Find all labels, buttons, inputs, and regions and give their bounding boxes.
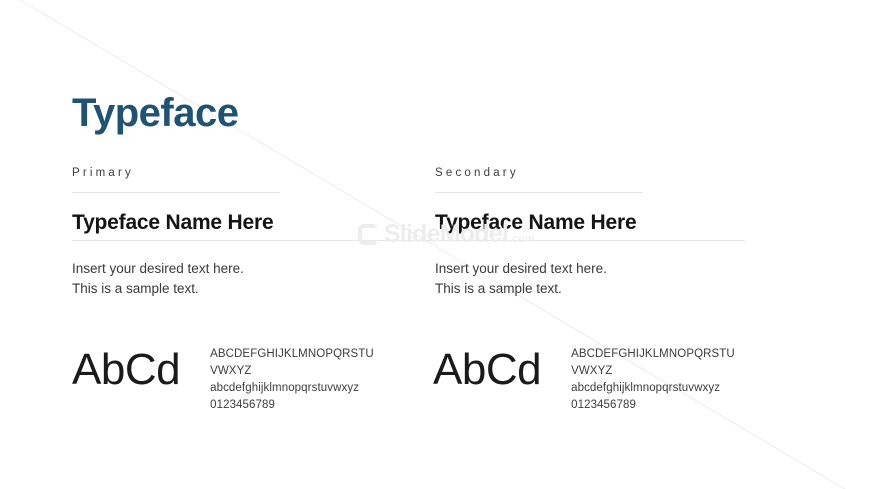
paragraph-line: This is a sample text. — [72, 279, 244, 299]
page-title: Typeface — [72, 93, 238, 133]
slide-canvas: Typeface Primary Typeface Name Here Seco… — [0, 0, 870, 489]
alphabet-line: VWXYZ — [210, 363, 374, 380]
alphabet-line: ABCDEFGHIJKLMNOPQRSTU — [210, 346, 374, 363]
alphabet-line: abcdefghijklmnopqrstuvwxyz — [571, 380, 735, 397]
specimen-alphabet-secondary: ABCDEFGHIJKLMNOPQRSTU VWXYZ abcdefghijkl… — [571, 346, 735, 414]
typeface-column-primary: Primary Typeface Name Here — [72, 168, 402, 234]
paragraph-line: Insert your desired text here. — [72, 259, 244, 279]
column-label-primary: Primary — [72, 168, 402, 180]
alphabet-line: VWXYZ — [571, 363, 735, 380]
alphabet-line: abcdefghijklmnopqrstuvwxyz — [210, 380, 374, 397]
column-label-secondary: Secondary — [435, 168, 765, 180]
sample-paragraph-secondary: Insert your desired text here. This is a… — [435, 259, 607, 298]
alphabet-line: ABCDEFGHIJKLMNOPQRSTU — [571, 346, 735, 363]
typeface-name-secondary: Typeface Name Here — [435, 211, 765, 234]
typeface-column-secondary: Secondary Typeface Name Here — [435, 168, 765, 234]
specimen-alphabet-primary: ABCDEFGHIJKLMNOPQRSTU VWXYZ abcdefghijkl… — [210, 346, 374, 414]
column-rule-secondary — [435, 192, 643, 193]
specimen-sample-secondary: AbCd — [433, 346, 541, 392]
diagonal-decoration — [0, 0, 870, 489]
paragraph-line: Insert your desired text here. — [435, 259, 607, 279]
font-specimen-secondary: AbCd ABCDEFGHIJKLMNOPQRSTU VWXYZ abcdefg… — [433, 346, 735, 414]
alphabet-line: 0123456789 — [210, 397, 374, 414]
typeface-name-primary: Typeface Name Here — [72, 211, 402, 234]
paragraph-line: This is a sample text. — [435, 279, 607, 299]
sample-paragraph-primary: Insert your desired text here. This is a… — [72, 259, 244, 298]
alphabet-line: 0123456789 — [571, 397, 735, 414]
column-rule-primary — [72, 192, 280, 193]
section-divider — [72, 240, 745, 241]
font-specimen-primary: AbCd ABCDEFGHIJKLMNOPQRSTU VWXYZ abcdefg… — [72, 346, 374, 414]
specimen-sample-primary: AbCd — [72, 346, 180, 392]
